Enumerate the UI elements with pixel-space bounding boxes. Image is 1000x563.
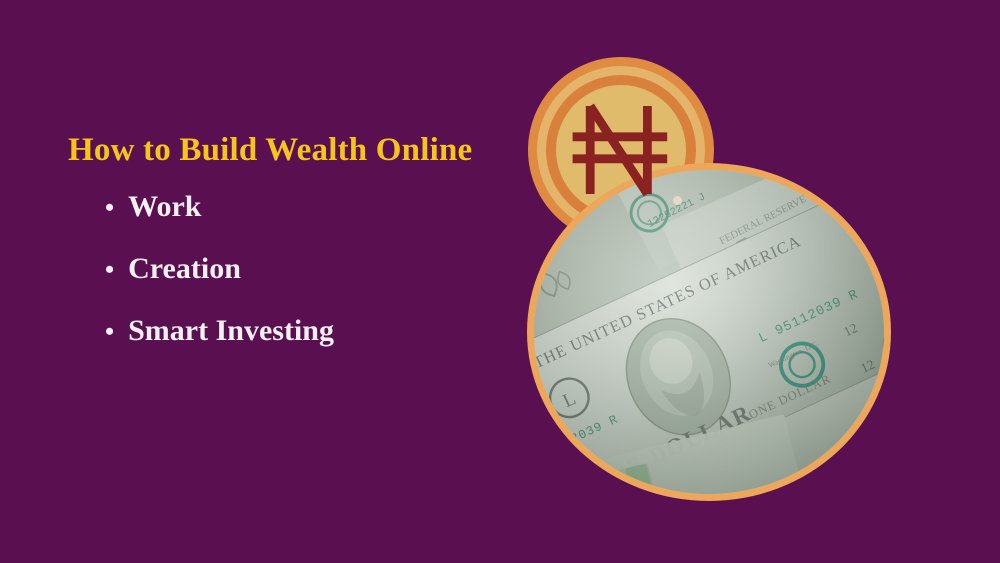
list-item: • Creation (105, 254, 568, 284)
coin-highlight-dot-icon (673, 196, 682, 205)
bullet-dot-icon: • (105, 257, 114, 283)
bullet-list: • Work • Creation • Smart Investing (68, 192, 568, 346)
list-item: • Smart Investing (105, 316, 568, 346)
list-item-label: Work (128, 192, 201, 222)
list-item-label: Creation (128, 254, 241, 284)
text-content-block: How to Build Wealth Online • Work • Crea… (68, 132, 568, 378)
dollar-bills-illustration: 5 5 12252221 J FEDERAL RESERVE NOTE THE … (534, 170, 884, 494)
page-title: How to Build Wealth Online (68, 132, 568, 168)
bullet-dot-icon: • (105, 319, 114, 345)
list-item-label: Smart Investing (128, 316, 334, 346)
slide-canvas: How to Build Wealth Online • Work • Crea… (0, 0, 1000, 563)
bullet-dot-icon: • (105, 195, 114, 221)
svg-text:12: 12 (534, 383, 536, 399)
naira-symbol-icon (566, 95, 676, 205)
list-item: • Work (105, 192, 568, 222)
us-dollar-bills-photo: 5 5 12252221 J FEDERAL RESERVE NOTE THE … (527, 163, 891, 501)
